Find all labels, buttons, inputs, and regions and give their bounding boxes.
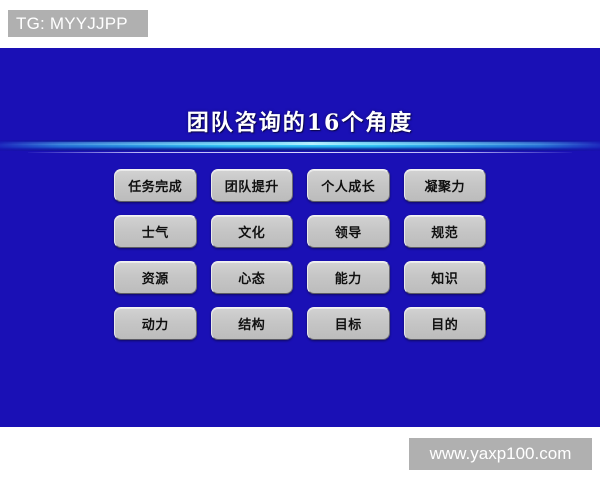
angle-button-structure[interactable]: 结构	[211, 307, 294, 340]
angle-button-leadership[interactable]: 领导	[307, 215, 390, 248]
grid-row: 士气 文化 领导 规范	[114, 215, 486, 248]
grid-row: 动力 结构 目标 目的	[114, 307, 486, 340]
angle-button-team-improvement[interactable]: 团队提升	[211, 169, 294, 202]
title-divider-underline	[28, 152, 572, 153]
angle-button-motivation[interactable]: 动力	[114, 307, 197, 340]
angle-button-purpose[interactable]: 目的	[404, 307, 487, 340]
angle-button-personal-growth[interactable]: 个人成长	[307, 169, 390, 202]
angle-button-resources[interactable]: 资源	[114, 261, 197, 294]
angle-button-knowledge[interactable]: 知识	[404, 261, 487, 294]
presentation-slide: 团队咨询的16个角度 任务完成 团队提升 个人成长 凝聚力 士气 文化 领导 规…	[0, 48, 600, 427]
angle-button-morale[interactable]: 士气	[114, 215, 197, 248]
angle-button-cohesion[interactable]: 凝聚力	[404, 169, 487, 202]
grid-row: 资源 心态 能力 知识	[114, 261, 486, 294]
angle-button-culture[interactable]: 文化	[211, 215, 294, 248]
angle-button-capability[interactable]: 能力	[307, 261, 390, 294]
title-divider-glow	[0, 142, 600, 145]
angle-button-norms[interactable]: 规范	[404, 215, 487, 248]
angle-button-task-completion[interactable]: 任务完成	[114, 169, 197, 202]
angle-button-grid: 任务完成 团队提升 个人成长 凝聚力 士气 文化 领导 规范 资源 心态 能力 …	[114, 169, 486, 340]
slide-title: 团队咨询的16个角度	[0, 105, 600, 137]
angle-button-mindset[interactable]: 心态	[211, 261, 294, 294]
angle-button-goal[interactable]: 目标	[307, 307, 390, 340]
bottom-right-watermark: www.yaxp100.com	[409, 438, 592, 470]
top-left-watermark: TG: MYYJJPP	[8, 10, 148, 37]
grid-row: 任务完成 团队提升 个人成长 凝聚力	[114, 169, 486, 202]
